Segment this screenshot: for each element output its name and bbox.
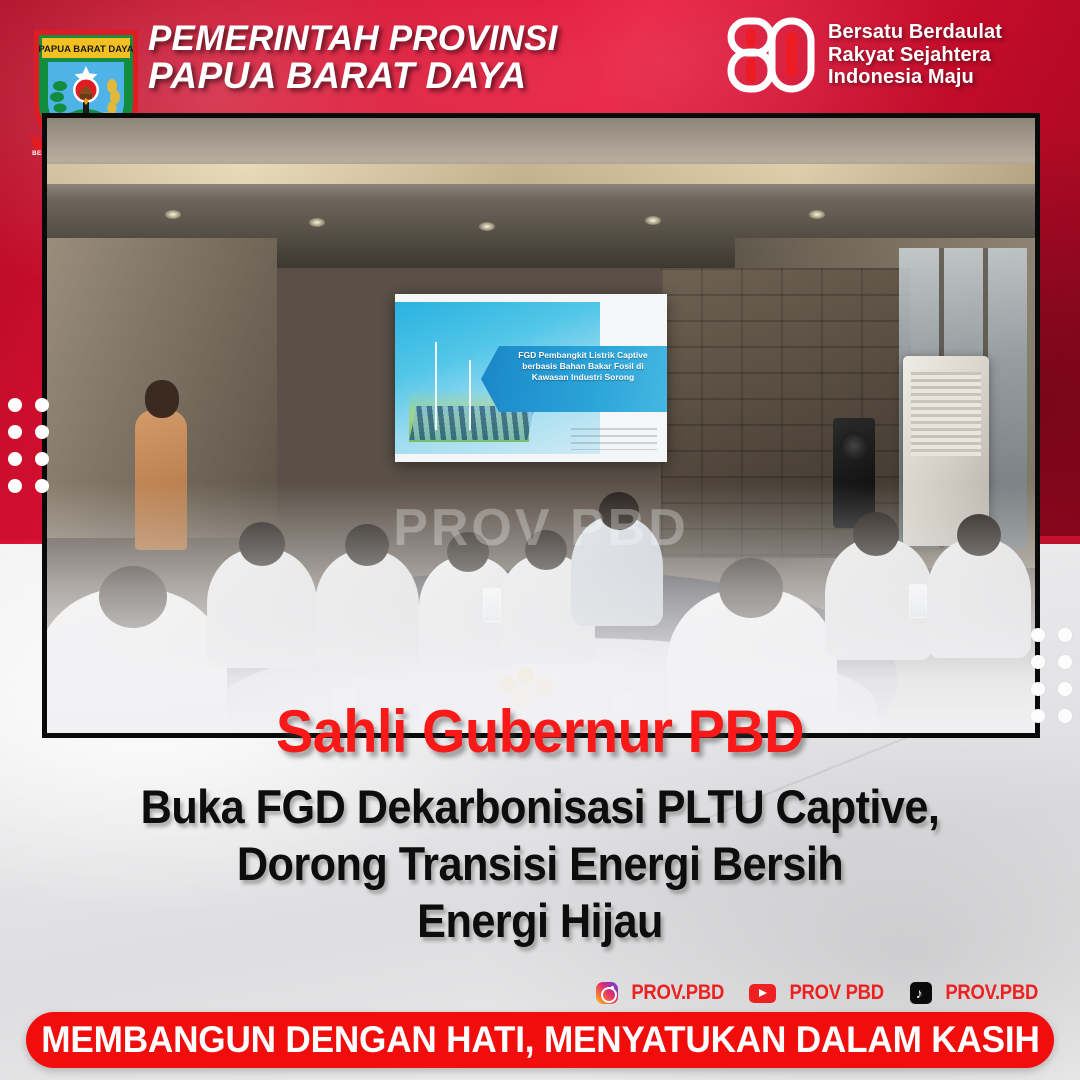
- headline-sub-line-2: Dorong Transisi Energi Bersih: [43, 835, 1037, 892]
- ceiling-spotlight: [309, 218, 325, 227]
- youtube-icon: [749, 984, 776, 1003]
- wind-turbine-graphic: [469, 360, 471, 430]
- dot: [8, 398, 22, 412]
- event-photo-frame: FGD Pembangkit Listrik Captive berbasis …: [42, 113, 1040, 738]
- eighty-anniversary-icon: [726, 16, 816, 94]
- anniversary-tagline: Bersatu Berdaulat Rakyat Sejahtera Indon…: [828, 21, 1002, 89]
- decorative-dot-grid-left: [8, 398, 49, 493]
- page-title: PEMERINTAH PROVINSI PAPUA BARAT DAYA: [148, 20, 618, 94]
- anniversary-line-3: Indonesia Maju: [828, 66, 1002, 89]
- headline-sub-line-3: Energi Hijau: [43, 892, 1037, 949]
- social-media-row: PROV.PBD PROV PBD ♪ PROV.PBD: [596, 981, 1044, 1005]
- social-tiktok[interactable]: ♪ PROV.PBD: [910, 981, 1044, 1005]
- ceiling-spotlight: [165, 210, 181, 219]
- slogan-text: MEMBANGUN DENGAN HATI, MENYATUKAN DALAM …: [41, 1019, 1039, 1061]
- tiktok-icon: ♪: [910, 982, 932, 1004]
- dot: [1058, 655, 1072, 669]
- dot: [8, 425, 22, 439]
- ceiling-light-strip: [47, 164, 1035, 184]
- photo-bottom-fade: [47, 483, 1035, 733]
- slide-title-text: FGD Pembangkit Listrik Captive berbasis …: [505, 350, 661, 383]
- svg-text:PAPUA BARAT DAYA: PAPUA BARAT DAYA: [38, 44, 133, 55]
- ceiling-spotlight: [645, 216, 661, 225]
- dot: [35, 425, 49, 439]
- headline-block: Sahli Gubernur PBD Buka FGD Dekarbonisas…: [0, 700, 1080, 949]
- slide-footer-lines: [571, 428, 657, 450]
- instagram-icon: [596, 982, 618, 1004]
- dot: [1031, 655, 1045, 669]
- instagram-handle: PROV.PBD: [631, 981, 724, 1005]
- tiktok-handle: PROV.PBD: [945, 981, 1038, 1005]
- dot: [1058, 628, 1072, 642]
- headline-main: Sahli Gubernur PBD: [38, 700, 1042, 764]
- anniversary-line-1: Bersatu Berdaulat: [828, 21, 1002, 44]
- dot: [1058, 682, 1072, 696]
- poster: PAPUA BARAT DAYA: [0, 0, 1080, 1080]
- social-instagram[interactable]: PROV.PBD: [596, 981, 730, 1005]
- anniversary-logo: Bersatu Berdaulat Rakyat Sejahtera Indon…: [726, 16, 1002, 94]
- government-line-2: PAPUA BARAT DAYA: [148, 57, 618, 94]
- dot: [35, 452, 49, 466]
- standing-speaker-head: [145, 380, 179, 418]
- event-photo: FGD Pembangkit Listrik Captive berbasis …: [47, 118, 1035, 733]
- youtube-handle: PROV PBD: [790, 981, 884, 1005]
- dot: [8, 479, 22, 493]
- anniversary-line-2: Rakyat Sejahtera: [828, 44, 1002, 67]
- dot: [35, 479, 49, 493]
- slogan-banner: MEMBANGUN DENGAN HATI, MENYATUKAN DALAM …: [26, 1012, 1054, 1068]
- dot: [35, 398, 49, 412]
- wind-turbine-graphic: [435, 342, 437, 430]
- ceiling-spotlight: [479, 222, 495, 231]
- dot: [8, 452, 22, 466]
- government-line-1: PEMERINTAH PROVINSI: [148, 20, 618, 57]
- dot: [1031, 628, 1045, 642]
- ceiling-spotlight: [809, 210, 825, 219]
- headline-subtitle: Buka FGD Dekarbonisasi PLTU Captive, Dor…: [43, 778, 1037, 949]
- projector-screen: FGD Pembangkit Listrik Captive berbasis …: [395, 294, 667, 462]
- headline-sub-line-1: Buka FGD Dekarbonisasi PLTU Captive,: [43, 778, 1037, 835]
- header: PAPUA BARAT DAYA: [0, 0, 1080, 113]
- social-youtube[interactable]: PROV PBD: [749, 981, 890, 1005]
- dot: [1031, 682, 1045, 696]
